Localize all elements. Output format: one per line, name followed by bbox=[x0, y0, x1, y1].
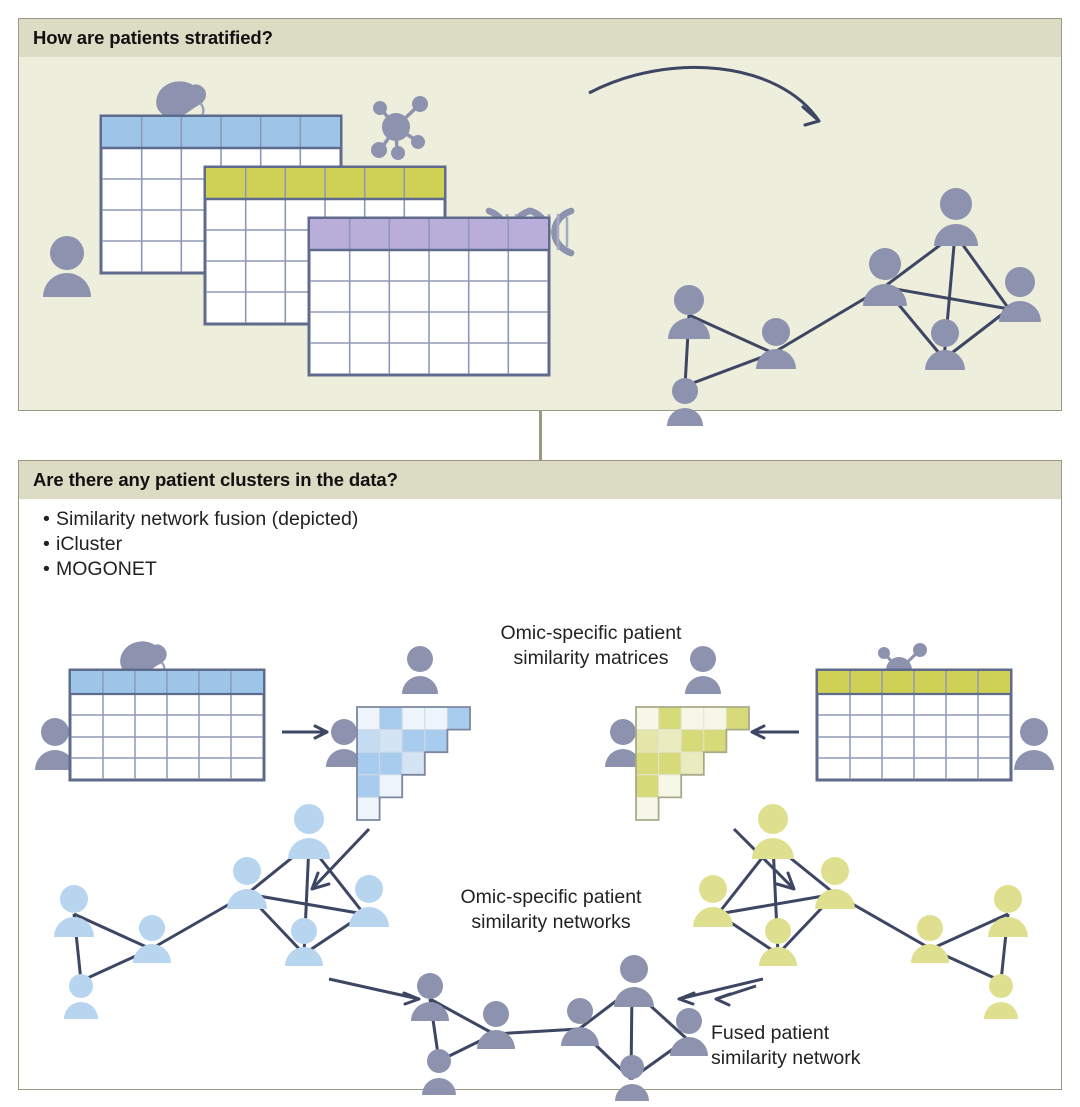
microbiome-table bbox=[101, 116, 341, 273]
list-item: •iCluster bbox=[43, 532, 358, 557]
person-icon bbox=[925, 319, 965, 370]
person-icon bbox=[227, 857, 267, 909]
method-label: MOGONET bbox=[56, 558, 157, 580]
person-icon bbox=[999, 267, 1041, 322]
caption-similarity-matrices: Omic-specific patient similarity matrice… bbox=[441, 621, 741, 671]
person-icon bbox=[349, 875, 389, 927]
person-icon bbox=[326, 719, 362, 767]
person-icon bbox=[668, 285, 710, 339]
olive-similarity-matrix bbox=[636, 707, 749, 820]
panel-bottom-body: •Similarity network fusion (depicted) •i… bbox=[19, 499, 1061, 1089]
caption-fused-network: Fused patient similarity network bbox=[711, 1021, 951, 1071]
person-icon bbox=[911, 915, 949, 963]
arrow-icon bbox=[734, 829, 794, 889]
dna-helix-icon bbox=[489, 211, 571, 253]
arrow-icon bbox=[329, 979, 419, 1004]
panel-bottom-title: Are there any patient clusters in the da… bbox=[33, 469, 398, 491]
method-list: •Similarity network fusion (depicted) •i… bbox=[43, 507, 358, 582]
person-icon bbox=[667, 378, 703, 426]
panel-are-there-any-patient-clusters: Are there any patient clusters in the da… bbox=[18, 460, 1062, 1090]
person-icon bbox=[64, 974, 98, 1019]
list-item: •MOGONET bbox=[43, 557, 358, 582]
person-icon bbox=[934, 188, 978, 246]
bullet-glyph: • bbox=[43, 507, 56, 532]
person-icon bbox=[402, 646, 438, 694]
metabolome-table-bottom bbox=[817, 670, 1011, 780]
person-icon bbox=[759, 918, 797, 966]
panel-bottom-header: Are there any patient clusters in the da… bbox=[19, 461, 1061, 499]
blue-similarity-network-edges bbox=[74, 844, 364, 981]
person-icon bbox=[752, 804, 794, 859]
person-icon bbox=[561, 998, 599, 1046]
microbiome-table-bottom bbox=[70, 670, 264, 780]
figure-root: How are patients stratified? bbox=[0, 0, 1080, 1107]
person-icon bbox=[984, 974, 1018, 1019]
bullet-glyph: • bbox=[43, 532, 56, 557]
olive-similarity-network-edges bbox=[718, 844, 1008, 981]
olive-similarity-network-nodes bbox=[693, 804, 1028, 1019]
bacteria-icon bbox=[156, 81, 238, 147]
bullet-glyph: • bbox=[43, 557, 56, 582]
arrow-icon bbox=[752, 726, 799, 738]
person-icon bbox=[815, 857, 855, 909]
person-icon bbox=[863, 248, 907, 306]
fused-network-top-edges bbox=[685, 234, 1009, 386]
arrow-icon bbox=[716, 986, 756, 1005]
bottom-panel-graphics bbox=[19, 499, 1063, 1091]
person-icon bbox=[477, 1001, 515, 1049]
fused-network-edges bbox=[430, 989, 687, 1079]
blue-similarity-matrix bbox=[357, 707, 470, 820]
top-panel-graphics bbox=[19, 57, 1063, 412]
person-icon bbox=[285, 918, 323, 966]
person-icon bbox=[133, 915, 171, 963]
caption-similarity-networks: Omic-specific patient similarity network… bbox=[401, 885, 701, 935]
panel-top-body bbox=[19, 57, 1061, 410]
person-icon bbox=[615, 1055, 649, 1101]
person-icon bbox=[288, 804, 330, 859]
person-icon bbox=[411, 973, 449, 1021]
person-icon bbox=[422, 1049, 456, 1095]
arrow-icon bbox=[282, 726, 327, 738]
arrow-icon bbox=[679, 979, 763, 1004]
molecule-icon bbox=[878, 643, 927, 699]
arrow-icon bbox=[589, 67, 819, 125]
person-icon bbox=[988, 885, 1028, 937]
panel-connector bbox=[539, 411, 542, 460]
arrow-icon bbox=[312, 829, 369, 889]
list-item: •Similarity network fusion (depicted) bbox=[43, 507, 358, 532]
molecule-icon bbox=[371, 96, 428, 160]
panel-how-are-patients-stratified: How are patients stratified? bbox=[18, 18, 1062, 411]
fused-network-top-nodes bbox=[667, 188, 1041, 426]
person-icon bbox=[605, 719, 641, 767]
blue-similarity-network-nodes bbox=[54, 804, 389, 1019]
person-icon bbox=[614, 955, 654, 1007]
metabolome-table bbox=[205, 167, 445, 324]
bacteria-icon bbox=[120, 641, 197, 704]
person-icon bbox=[54, 885, 94, 937]
genome-table bbox=[309, 218, 549, 375]
fused-network-nodes bbox=[411, 955, 708, 1101]
person-icon bbox=[35, 718, 75, 770]
person-icon bbox=[1014, 718, 1054, 770]
person-icon bbox=[756, 318, 796, 369]
panel-top-title: How are patients stratified? bbox=[33, 27, 273, 49]
person-icon bbox=[43, 236, 91, 297]
method-label: Similarity network fusion (depicted) bbox=[56, 508, 358, 530]
panel-top-header: How are patients stratified? bbox=[19, 19, 1061, 57]
method-label: iCluster bbox=[56, 533, 122, 555]
person-icon bbox=[670, 1008, 708, 1056]
